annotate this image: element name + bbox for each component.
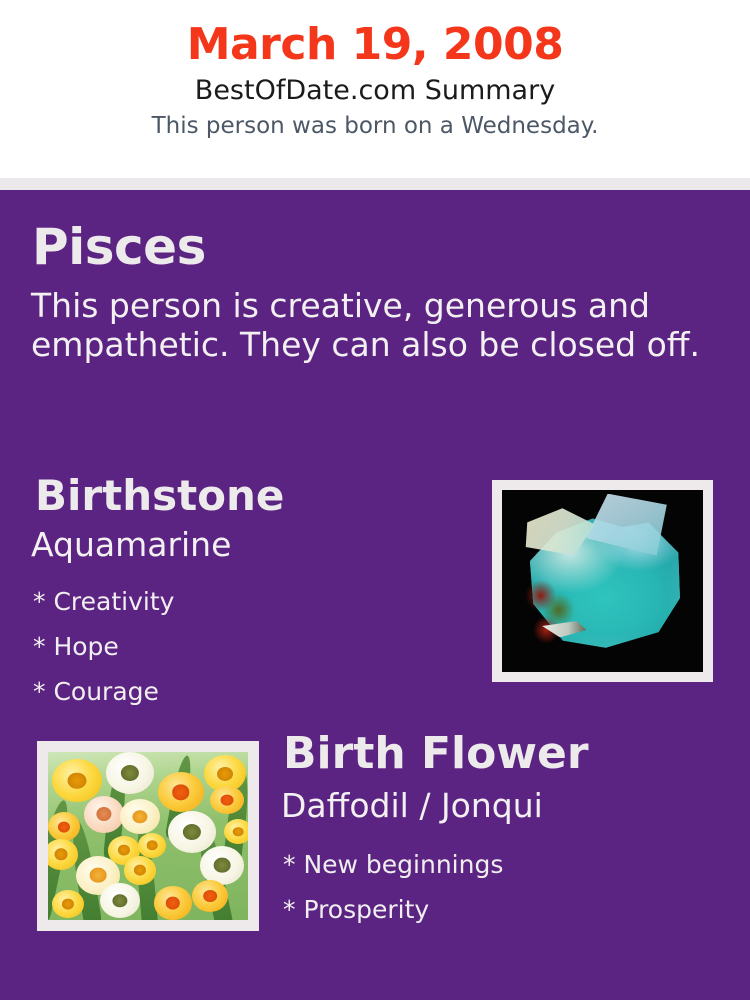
details-panel: Pisces This person is creative, generous…: [0, 190, 750, 1000]
birth-flower-photo-frame: [37, 741, 259, 931]
daffodil-bloom-icon: [138, 833, 166, 858]
daffodil-bloom-icon: [192, 880, 228, 912]
list-item: * Creativity: [33, 580, 174, 625]
daffodil-bloom-icon: [154, 886, 192, 920]
daffodil-bloom-icon: [124, 856, 156, 885]
daffodil-bloom-icon: [48, 839, 78, 869]
daffodil-bloom-icon: [106, 752, 154, 794]
zodiac-description: This person is creative, generous and em…: [31, 286, 711, 365]
daffodil-bloom-icon: [120, 799, 160, 834]
day-of-week-line: This person was born on a Wednesday.: [0, 106, 750, 139]
birthstone-photo: [502, 490, 703, 672]
daffodil-bloom-icon: [48, 812, 80, 841]
birthstone-name: Aquamarine: [31, 528, 231, 561]
list-item: * New beginnings: [283, 843, 503, 888]
daffodil-bloom-icon: [224, 819, 248, 844]
header-divider: [0, 178, 750, 190]
list-item: * Prosperity: [283, 888, 503, 933]
birthstone-heading: Birthstone: [35, 475, 284, 517]
birth-flower-trait-list: * New beginnings * Prosperity: [283, 843, 503, 933]
birthstone-trait-list: * Creativity * Hope * Courage: [33, 580, 174, 714]
card-header: March 19, 2008 BestOfDate.com Summary Th…: [0, 0, 750, 178]
daffodil-bloom-icon: [52, 890, 84, 919]
daffodil-bloom-icon: [210, 786, 244, 815]
summary-card: March 19, 2008 BestOfDate.com Summary Th…: [0, 0, 750, 1000]
daffodil-bloom-icon: [84, 796, 124, 833]
birthstone-photo-frame: [492, 480, 713, 682]
daffodil-bloom-icon: [158, 772, 204, 812]
zodiac-sign-heading: Pisces: [32, 222, 206, 272]
list-item: * Courage: [33, 670, 174, 715]
daffodil-bloom-icon: [52, 759, 102, 803]
birth-flower-name: Daffodil / Jonqui: [281, 789, 543, 822]
site-summary-label: BestOfDate.com Summary: [0, 68, 750, 106]
page-title-date: March 19, 2008: [0, 0, 750, 68]
birth-flower-heading: Birth Flower: [283, 732, 589, 776]
daffodil-bloom-icon: [200, 846, 244, 885]
daffodil-bloom-icon: [100, 883, 140, 918]
birth-flower-photo: [48, 752, 248, 920]
daffodil-bloom-icon: [168, 811, 216, 853]
list-item: * Hope: [33, 625, 174, 670]
